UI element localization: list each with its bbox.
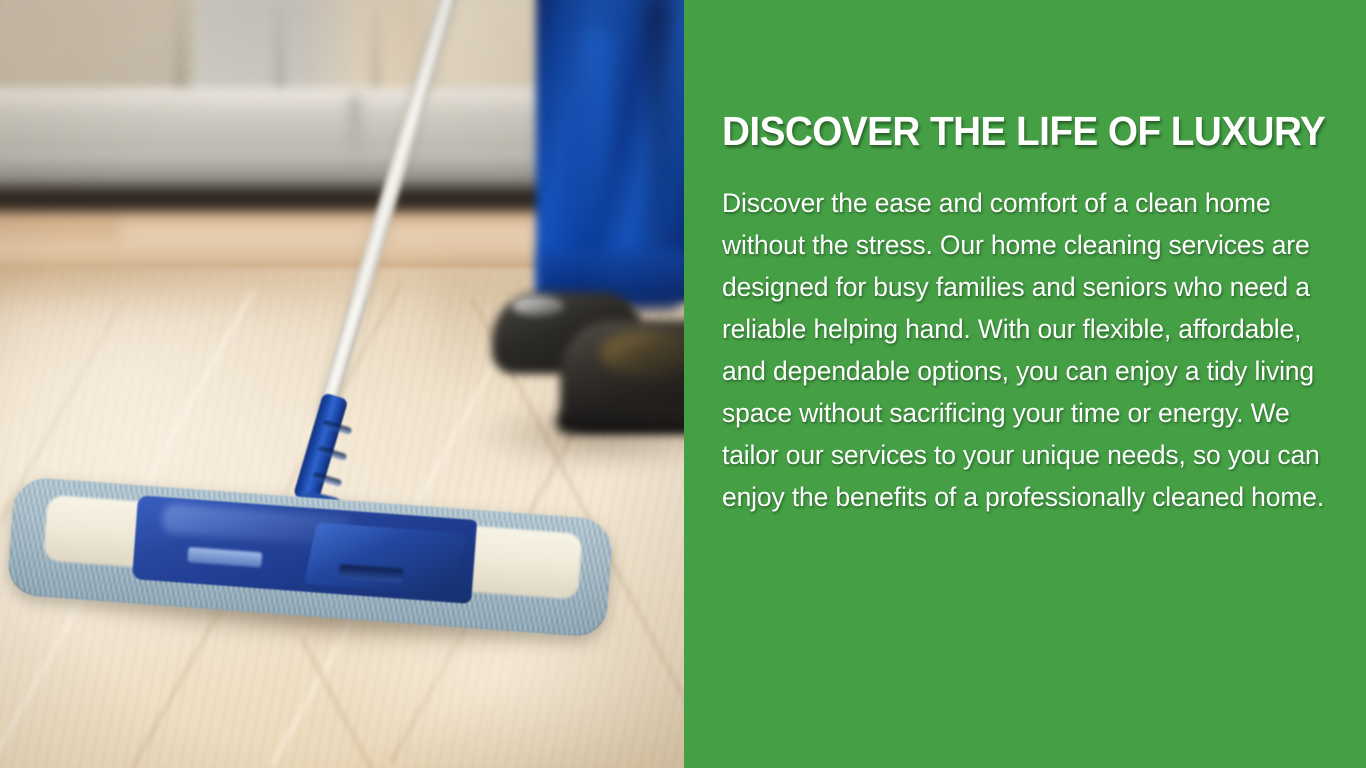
textured-pillow: [0, 0, 194, 91]
text-panel: DISCOVER THE LIFE OF LUXURY Discover the…: [684, 0, 1366, 768]
floor-band-highlight: [120, 222, 580, 252]
shoe-sole: [556, 404, 684, 434]
page-title: DISCOVER THE LIFE OF LUXURY: [722, 110, 1302, 153]
trouser-fold-shadow: [648, 0, 670, 260]
hero-photo: [0, 0, 684, 768]
sofa-seam: [176, 0, 184, 100]
sofa-seam: [276, 0, 283, 98]
shoe-highlight: [512, 296, 564, 316]
sofa-seam: [372, 0, 379, 98]
slide-root: DISCOVER THE LIFE OF LUXURY Discover the…: [0, 0, 1366, 768]
mop-head-bracket: [304, 522, 467, 594]
body-paragraph: Discover the ease and comfort of a clean…: [722, 182, 1336, 518]
trouser-fold-highlight: [586, 30, 612, 270]
